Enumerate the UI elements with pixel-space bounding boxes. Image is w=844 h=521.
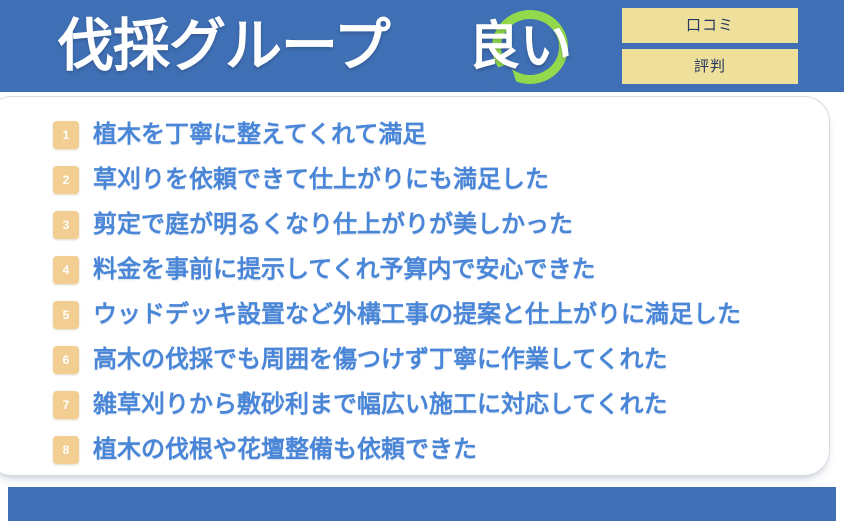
rating-emblem: 良い <box>468 6 608 88</box>
badge-reputation[interactable]: 評判 <box>622 49 798 84</box>
list-item: 5 ウッドデッキ設置など外構工事の提案と仕上がりに満足した <box>53 293 823 337</box>
list-item: 6 高木の伐採でも周囲を傷つけず丁寧に作業してくれた <box>53 338 823 382</box>
list-item: 3 剪定で庭が明るくなり仕上がりが美しかった <box>53 203 823 247</box>
list-item-number: 7 <box>53 391 79 419</box>
page-footer-bar <box>8 487 836 521</box>
list-item-label: 植木の伐根や花壇整備も依頼できた <box>93 435 477 465</box>
list-item-label: ウッドデッキ設置など外構工事の提案と仕上がりに満足した <box>93 300 741 330</box>
list-item: 8 植木の伐根や花壇整備も依頼できた <box>53 428 823 472</box>
list-item-label: 料金を事前に提示してくれ予算内で安心できた <box>93 255 596 285</box>
list-item-number: 3 <box>53 211 79 239</box>
review-summary-page: 伐採グループ 良い 口コミ 評判 1 植木を丁寧に整えてくれて満足 2 草刈りを… <box>0 0 844 521</box>
header-badge-group: 口コミ 評判 <box>622 8 798 84</box>
list-item-label: 剪定で庭が明るくなり仕上がりが美しかった <box>93 210 573 240</box>
list-item-label: 雑草刈りから敷砂利まで幅広い施工に対応してくれた <box>93 390 668 420</box>
list-item-number: 5 <box>53 301 79 329</box>
list-item-label: 草刈りを依頼できて仕上がりにも満足した <box>93 165 549 195</box>
list-item-number: 4 <box>53 256 79 284</box>
list-item-number: 2 <box>53 166 79 194</box>
list-item-label: 植木を丁寧に整えてくれて満足 <box>93 120 426 150</box>
list-item-number: 6 <box>53 346 79 374</box>
list-item: 1 植木を丁寧に整えてくれて満足 <box>53 113 823 157</box>
page-header: 伐採グループ 良い 口コミ 評判 <box>0 0 844 92</box>
list-item: 4 料金を事前に提示してくれ予算内で安心できた <box>53 248 823 292</box>
rating-label: 良い <box>468 11 572 83</box>
list-item-number: 1 <box>53 121 79 149</box>
page-title: 伐採グループ <box>57 8 390 84</box>
review-list: 1 植木を丁寧に整えてくれて満足 2 草刈りを依頼できて仕上がりにも満足した 3… <box>53 113 823 473</box>
list-item-label: 高木の伐採でも周囲を傷つけず丁寧に作業してくれた <box>93 345 668 375</box>
badge-reviews[interactable]: 口コミ <box>622 8 798 43</box>
review-card: 1 植木を丁寧に整えてくれて満足 2 草刈りを依頼できて仕上がりにも満足した 3… <box>0 96 830 476</box>
list-item: 2 草刈りを依頼できて仕上がりにも満足した <box>53 158 823 202</box>
list-item-number: 8 <box>53 436 79 464</box>
list-item: 7 雑草刈りから敷砂利まで幅広い施工に対応してくれた <box>53 383 823 427</box>
